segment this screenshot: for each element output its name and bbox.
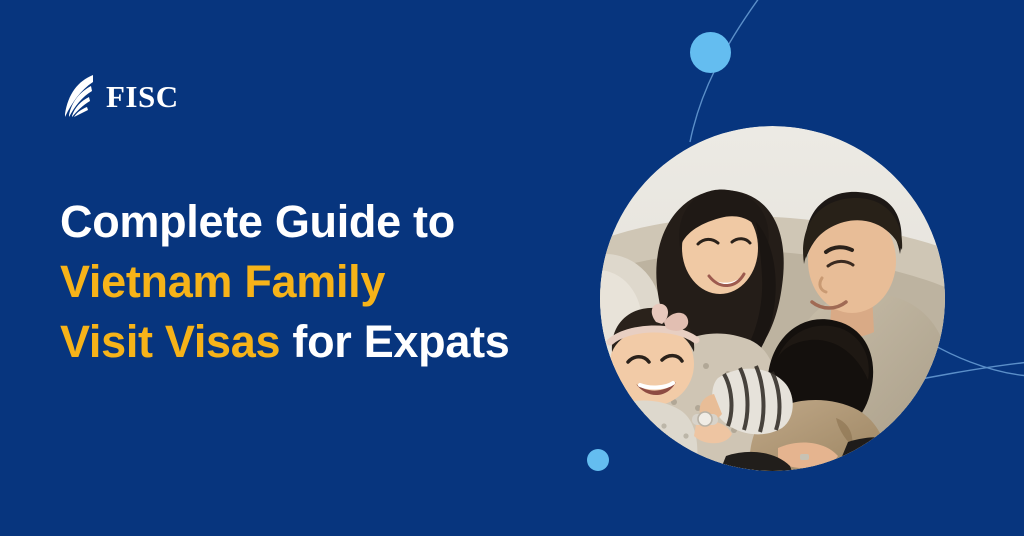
headline-line-1: Complete Guide to bbox=[60, 192, 600, 252]
arc-top-left bbox=[690, 0, 762, 142]
headline-line-3: Visit Visas for Expats bbox=[60, 312, 600, 372]
family-photo-circle bbox=[600, 126, 945, 471]
headline-segment: for Expats bbox=[292, 316, 509, 367]
headline-segment: Vietnam Family bbox=[60, 256, 385, 307]
light-blue-dot-small bbox=[587, 449, 609, 471]
headline-line-2: Vietnam Family bbox=[60, 252, 600, 312]
headline-segment: Visit Visas bbox=[60, 316, 292, 367]
family-photo-illustration bbox=[600, 126, 945, 471]
brand-wordmark: FISC bbox=[106, 81, 179, 112]
brand-logo[interactable]: FISC bbox=[62, 74, 179, 118]
light-blue-dot-large bbox=[690, 32, 731, 73]
hero-banner: FISC Complete Guide to Vietnam Family Vi… bbox=[0, 0, 1024, 536]
headline-segment: Complete Guide to bbox=[60, 196, 455, 247]
fisc-sail-logo-icon bbox=[62, 74, 98, 118]
page-title: Complete Guide to Vietnam Family Visit V… bbox=[60, 192, 600, 372]
